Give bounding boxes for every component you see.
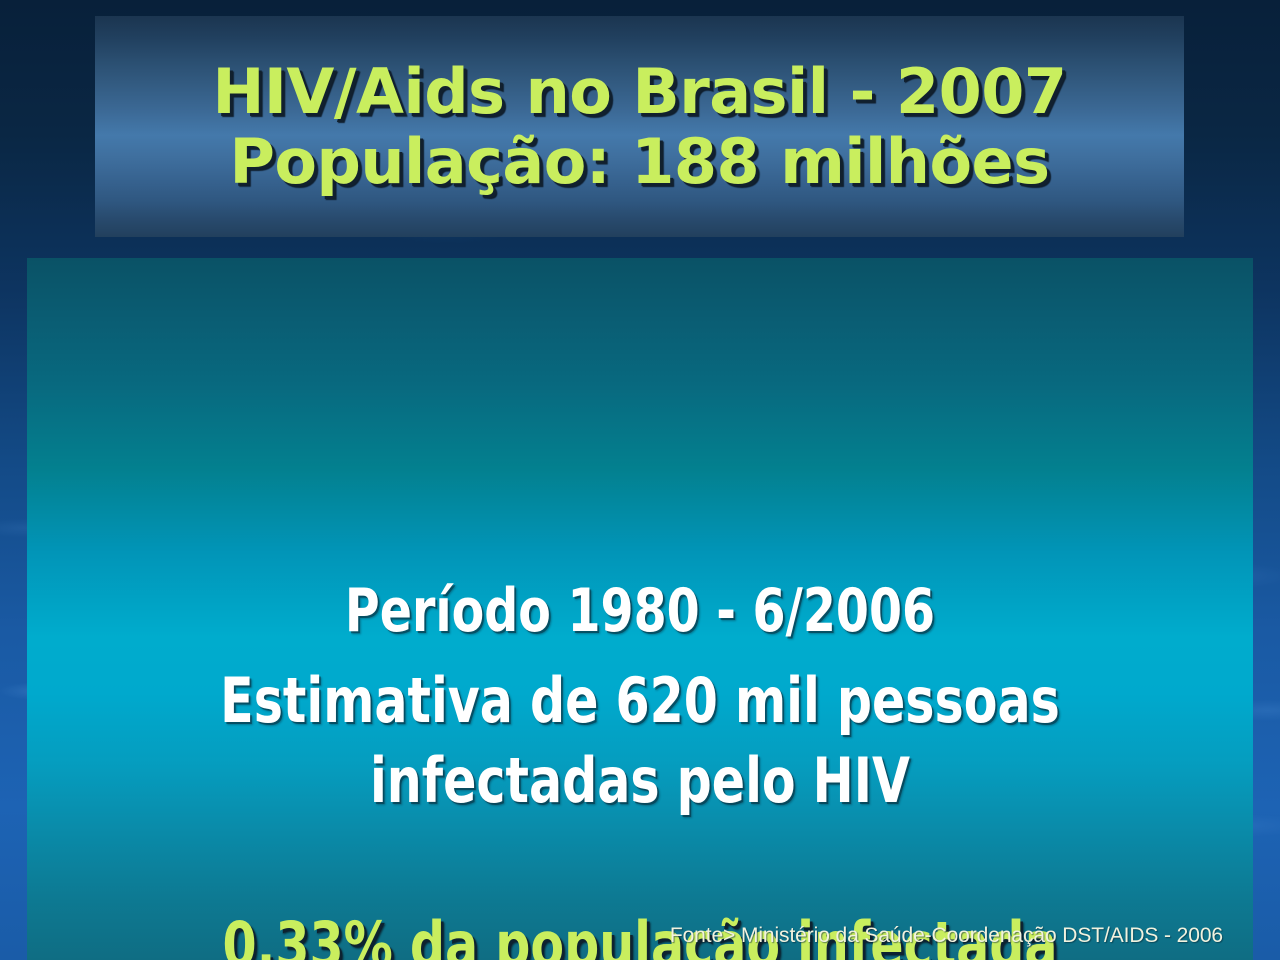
- source-footnote: Fonte> Ministério da Saúde-Coordenação D…: [670, 924, 1223, 948]
- title-panel: HIV/Aids no Brasil - 2007 População: 188…: [95, 16, 1184, 237]
- title-line-1: HIV/Aids no Brasil - 2007: [212, 57, 1066, 126]
- estimate-line-2: infectadas pelo HIV: [101, 744, 1180, 817]
- content-panel: Período 1980 - 6/2006 Estimativa de 620 …: [27, 258, 1253, 960]
- estimate-line-1: Estimativa de 620 mil pessoas: [101, 664, 1180, 737]
- period-line: Período 1980 - 6/2006: [101, 576, 1180, 646]
- title-line-2: População: 188 milhões: [229, 127, 1049, 196]
- presentation-slide: HIV/Aids no Brasil - 2007 População: 188…: [0, 0, 1280, 960]
